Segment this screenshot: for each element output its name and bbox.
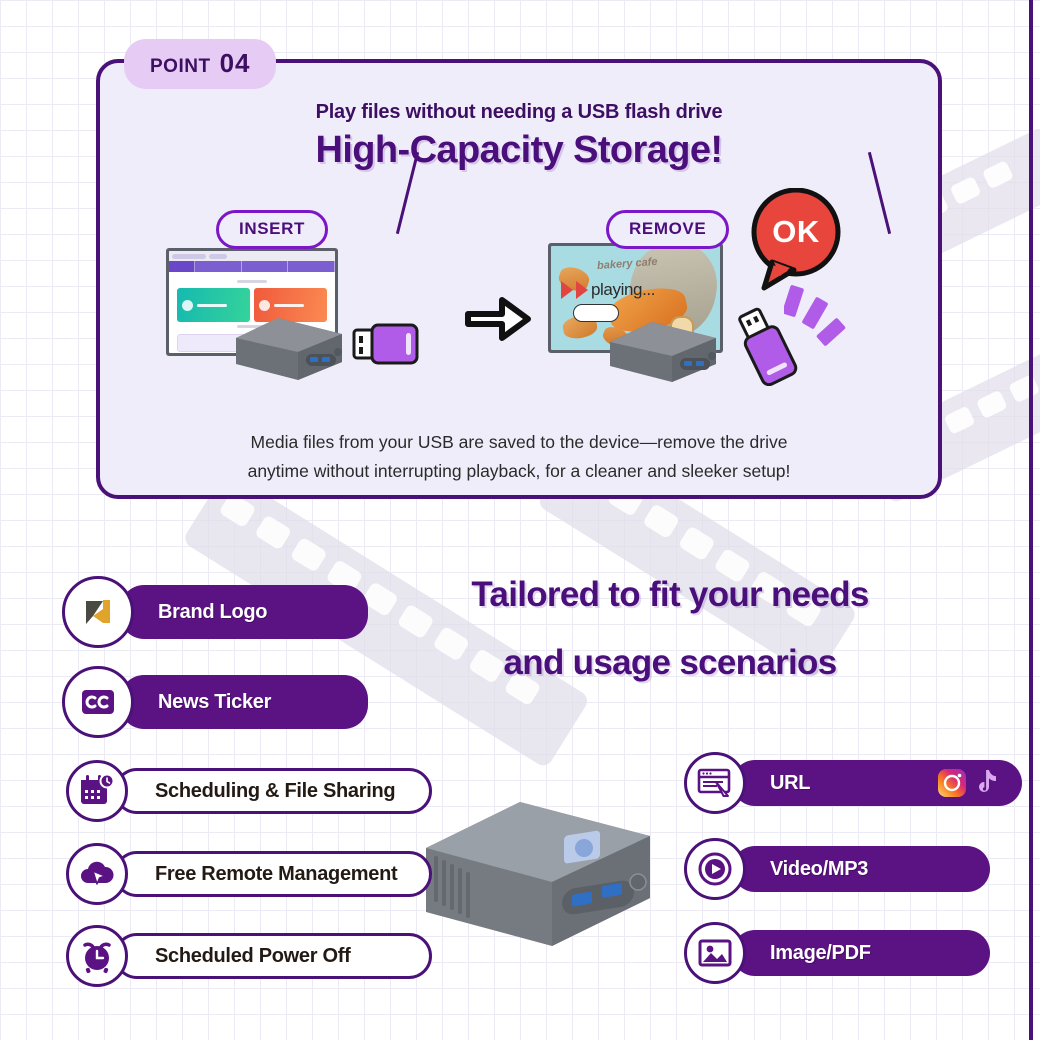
alarm-clock-icon [66, 925, 128, 987]
ui-tab-4 [288, 261, 335, 272]
ui-nav-tabs [169, 261, 335, 272]
feature-pill-scheduling-file-sharing[interactable]: Scheduling & File Sharing [66, 760, 432, 822]
feature-pill-image-pdf[interactable]: Image/PDF [684, 922, 990, 984]
point-badge-word: POINT [150, 56, 211, 78]
pill-bar[interactable]: Scheduled Power Off [114, 933, 432, 979]
ui-card-label [197, 304, 227, 307]
play-circle-icon [684, 838, 746, 900]
calendar-clock-icon [66, 760, 128, 822]
feature-pill-free-remote-management[interactable]: Free Remote Management [66, 843, 432, 905]
ui-tab-1 [169, 261, 195, 272]
feature-label: URL [770, 772, 810, 795]
cloud-cursor-icon [66, 843, 128, 905]
closed-caption-icon [62, 666, 134, 738]
ok-label: OK [746, 214, 846, 250]
pill-bar[interactable]: Scheduling & File Sharing [114, 768, 432, 814]
ui-card-label [274, 304, 304, 307]
bottom-headline: Tailored to fit your needs and usage sce… [370, 575, 970, 683]
right-edge-accent-line [1029, 0, 1033, 1040]
playing-indicator: playing... [561, 280, 655, 300]
card-headline-block: Play files without needing a USB flash d… [100, 101, 938, 172]
pill-bar[interactable]: Image/PDF [732, 930, 990, 976]
right-arrow-icon [462, 288, 536, 350]
tiktok-icon [972, 768, 1000, 798]
ui-tab-3 [242, 261, 289, 272]
pill-bar[interactable]: Video/MP3 [732, 846, 990, 892]
usb-flash-drive [352, 322, 420, 368]
pill-bar[interactable]: News Ticker [120, 675, 368, 729]
feature-label: Brand Logo [158, 601, 267, 624]
pill-bar[interactable]: Free Remote Management [114, 851, 432, 897]
playing-label: playing... [591, 280, 655, 300]
feature-label: Scheduling & File Sharing [155, 780, 395, 803]
feature-label: News Ticker [158, 691, 271, 714]
mini-pc-device [604, 316, 724, 386]
ui-topbar [169, 251, 335, 261]
image-icon [684, 922, 746, 984]
feature-pill-brand-logo[interactable]: Brand Logo [62, 576, 368, 648]
feature-label: Video/MP3 [770, 858, 868, 881]
feature-pill-news-ticker[interactable]: News Ticker [62, 666, 368, 738]
card-headline: High-Capacity Storage! [100, 129, 938, 172]
ui-card-icon [259, 300, 270, 311]
browser-cursor-icon [684, 752, 746, 814]
card-body-text: Media files from your USB are saved to t… [230, 428, 808, 486]
feature-label: Scheduled Power Off [155, 945, 350, 968]
fast-forward-icon [576, 281, 588, 299]
insert-chip: INSERT [216, 210, 328, 249]
mini-pc-device-hero [412, 790, 662, 950]
remove-chip: REMOVE [606, 210, 729, 249]
ui-card-icon [182, 300, 193, 311]
card-subhead: Play files without needing a USB flash d… [100, 101, 938, 124]
bottom-headline-line1: Tailored to fit your needs [370, 575, 970, 615]
brand-n-logo-icon [62, 576, 134, 648]
ok-speech-bubble: OK [746, 188, 846, 292]
feature-pill-url[interactable]: URL [684, 752, 1022, 814]
social-icons [909, 768, 1000, 798]
instagram-icon [937, 768, 967, 798]
feature-pill-video-mp3[interactable]: Video/MP3 [684, 838, 990, 900]
usb-flash-drive [736, 304, 808, 386]
feature-label: Image/PDF [770, 942, 871, 965]
ui-tab-2 [195, 261, 242, 272]
fast-forward-icon [561, 281, 573, 299]
ui-search-field [172, 254, 206, 259]
point-badge-number: 04 [220, 48, 251, 79]
ui-section-label [237, 280, 267, 283]
pill-bar[interactable]: URL [732, 760, 1022, 806]
feature-pill-scheduled-power-off[interactable]: Scheduled Power Off [66, 925, 432, 987]
ui-topbar-item [209, 254, 227, 259]
bottom-headline-line2: and usage scenarios [370, 643, 970, 683]
pill-bar[interactable]: Brand Logo [120, 585, 368, 639]
point-badge: POINT 04 [124, 39, 276, 89]
mini-pc-device [228, 312, 350, 384]
feature-label: Free Remote Management [155, 863, 397, 886]
